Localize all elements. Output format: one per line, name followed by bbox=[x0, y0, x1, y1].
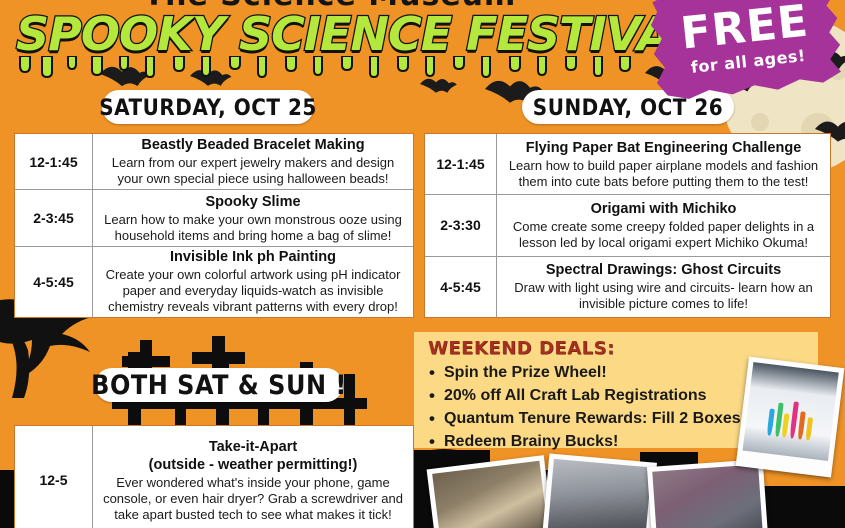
session-time: 4-5:45 bbox=[425, 257, 497, 317]
session-title: Beastly Beaded Bracelet Making bbox=[141, 137, 364, 154]
session-title: Invisible Ink ph Painting bbox=[170, 249, 336, 266]
session-time: 2-3:45 bbox=[15, 190, 93, 245]
session-description: Ever wondered what's inside your phone, … bbox=[101, 475, 405, 523]
slime-drip-decoration bbox=[16, 56, 646, 78]
day-header-saturday-label: SATURDAY, OCT 25 bbox=[99, 94, 317, 121]
photo-image bbox=[547, 459, 651, 528]
session-details: Invisible Ink ph Painting Create your ow… bbox=[93, 247, 413, 317]
halloween-festival-poster: The Science Museum SPOOKY SCIENCE FESTIV… bbox=[0, 0, 845, 528]
session-details: Spooky Slime Learn how to make your own … bbox=[93, 190, 413, 245]
table-row: 2-3:30 Origami with Michiko Come create … bbox=[425, 195, 830, 256]
table-row: 2-3:45 Spooky Slime Learn how to make yo… bbox=[15, 190, 413, 246]
page-title: SPOOKY SCIENCE FESTIVAL bbox=[16, 8, 646, 60]
session-subtitle: (outside - weather permitting!) bbox=[149, 457, 358, 474]
photo-image bbox=[743, 362, 839, 461]
festival-photo-1 bbox=[427, 455, 556, 528]
session-title: Spectral Drawings: Ghost Circuits bbox=[546, 262, 781, 279]
session-time: 4-5:45 bbox=[15, 247, 93, 317]
photo-image bbox=[432, 461, 548, 528]
session-description: Draw with light using wire and circuits-… bbox=[505, 280, 822, 312]
session-time: 12-1:45 bbox=[15, 134, 93, 189]
session-details: Spectral Drawings: Ghost Circuits Draw w… bbox=[497, 257, 830, 317]
table-row: 12-1:45 Flying Paper Bat Engineering Cha… bbox=[425, 134, 830, 195]
session-time: 2-3:30 bbox=[425, 195, 497, 255]
day-header-both-days-label: BOTH SAT & SUN ! bbox=[91, 369, 347, 400]
session-title: Origami with Michiko bbox=[591, 201, 737, 218]
session-details: Take-it-Apart (outside - weather permitt… bbox=[93, 426, 413, 528]
session-details: Flying Paper Bat Engineering Challenge L… bbox=[497, 134, 830, 194]
session-description: Create your own colorful artwork using p… bbox=[101, 267, 405, 315]
free-admission-badge: FREE for all ages! bbox=[646, 0, 845, 106]
session-description: Learn how to make your own monstrous ooz… bbox=[101, 212, 405, 244]
photo-image bbox=[652, 464, 763, 528]
session-title: Flying Paper Bat Engineering Challenge bbox=[526, 140, 802, 157]
session-time: 12-5 bbox=[15, 426, 93, 528]
festival-photo-3 bbox=[647, 459, 769, 528]
day-header-both-days: BOTH SAT & SUN ! bbox=[95, 368, 343, 402]
table-row: 12-5 Take-it-Apart (outside - weather pe… bbox=[15, 426, 413, 528]
table-row: 4-5:45 Invisible Ink ph Painting Create … bbox=[15, 247, 413, 317]
festival-photo-4-beaker bbox=[736, 357, 845, 478]
table-row: 12-1:45 Beastly Beaded Bracelet Making L… bbox=[15, 134, 413, 190]
schedule-table-sunday: 12-1:45 Flying Paper Bat Engineering Cha… bbox=[424, 133, 831, 318]
session-description: Learn from our expert jewelry makers and… bbox=[101, 155, 405, 187]
session-details: Beastly Beaded Bracelet Making Learn fro… bbox=[93, 134, 413, 189]
session-description: Come create some creepy folded paper del… bbox=[505, 219, 822, 251]
schedule-table-saturday: 12-1:45 Beastly Beaded Bracelet Making L… bbox=[14, 133, 414, 318]
festival-photo-2 bbox=[541, 453, 657, 528]
session-title: Spooky Slime bbox=[205, 194, 300, 211]
schedule-table-both-days: 12-5 Take-it-Apart (outside - weather pe… bbox=[14, 425, 414, 528]
session-title: Take-it-Apart bbox=[209, 439, 297, 456]
table-row: 4-5:45 Spectral Drawings: Ghost Circuits… bbox=[425, 257, 830, 317]
session-time: 12-1:45 bbox=[425, 134, 497, 194]
day-header-saturday: SATURDAY, OCT 25 bbox=[102, 90, 314, 124]
chromatography-streaks bbox=[765, 396, 816, 441]
session-description: Learn how to build paper airplane models… bbox=[505, 158, 822, 190]
session-details: Origami with Michiko Come create some cr… bbox=[497, 195, 830, 255]
